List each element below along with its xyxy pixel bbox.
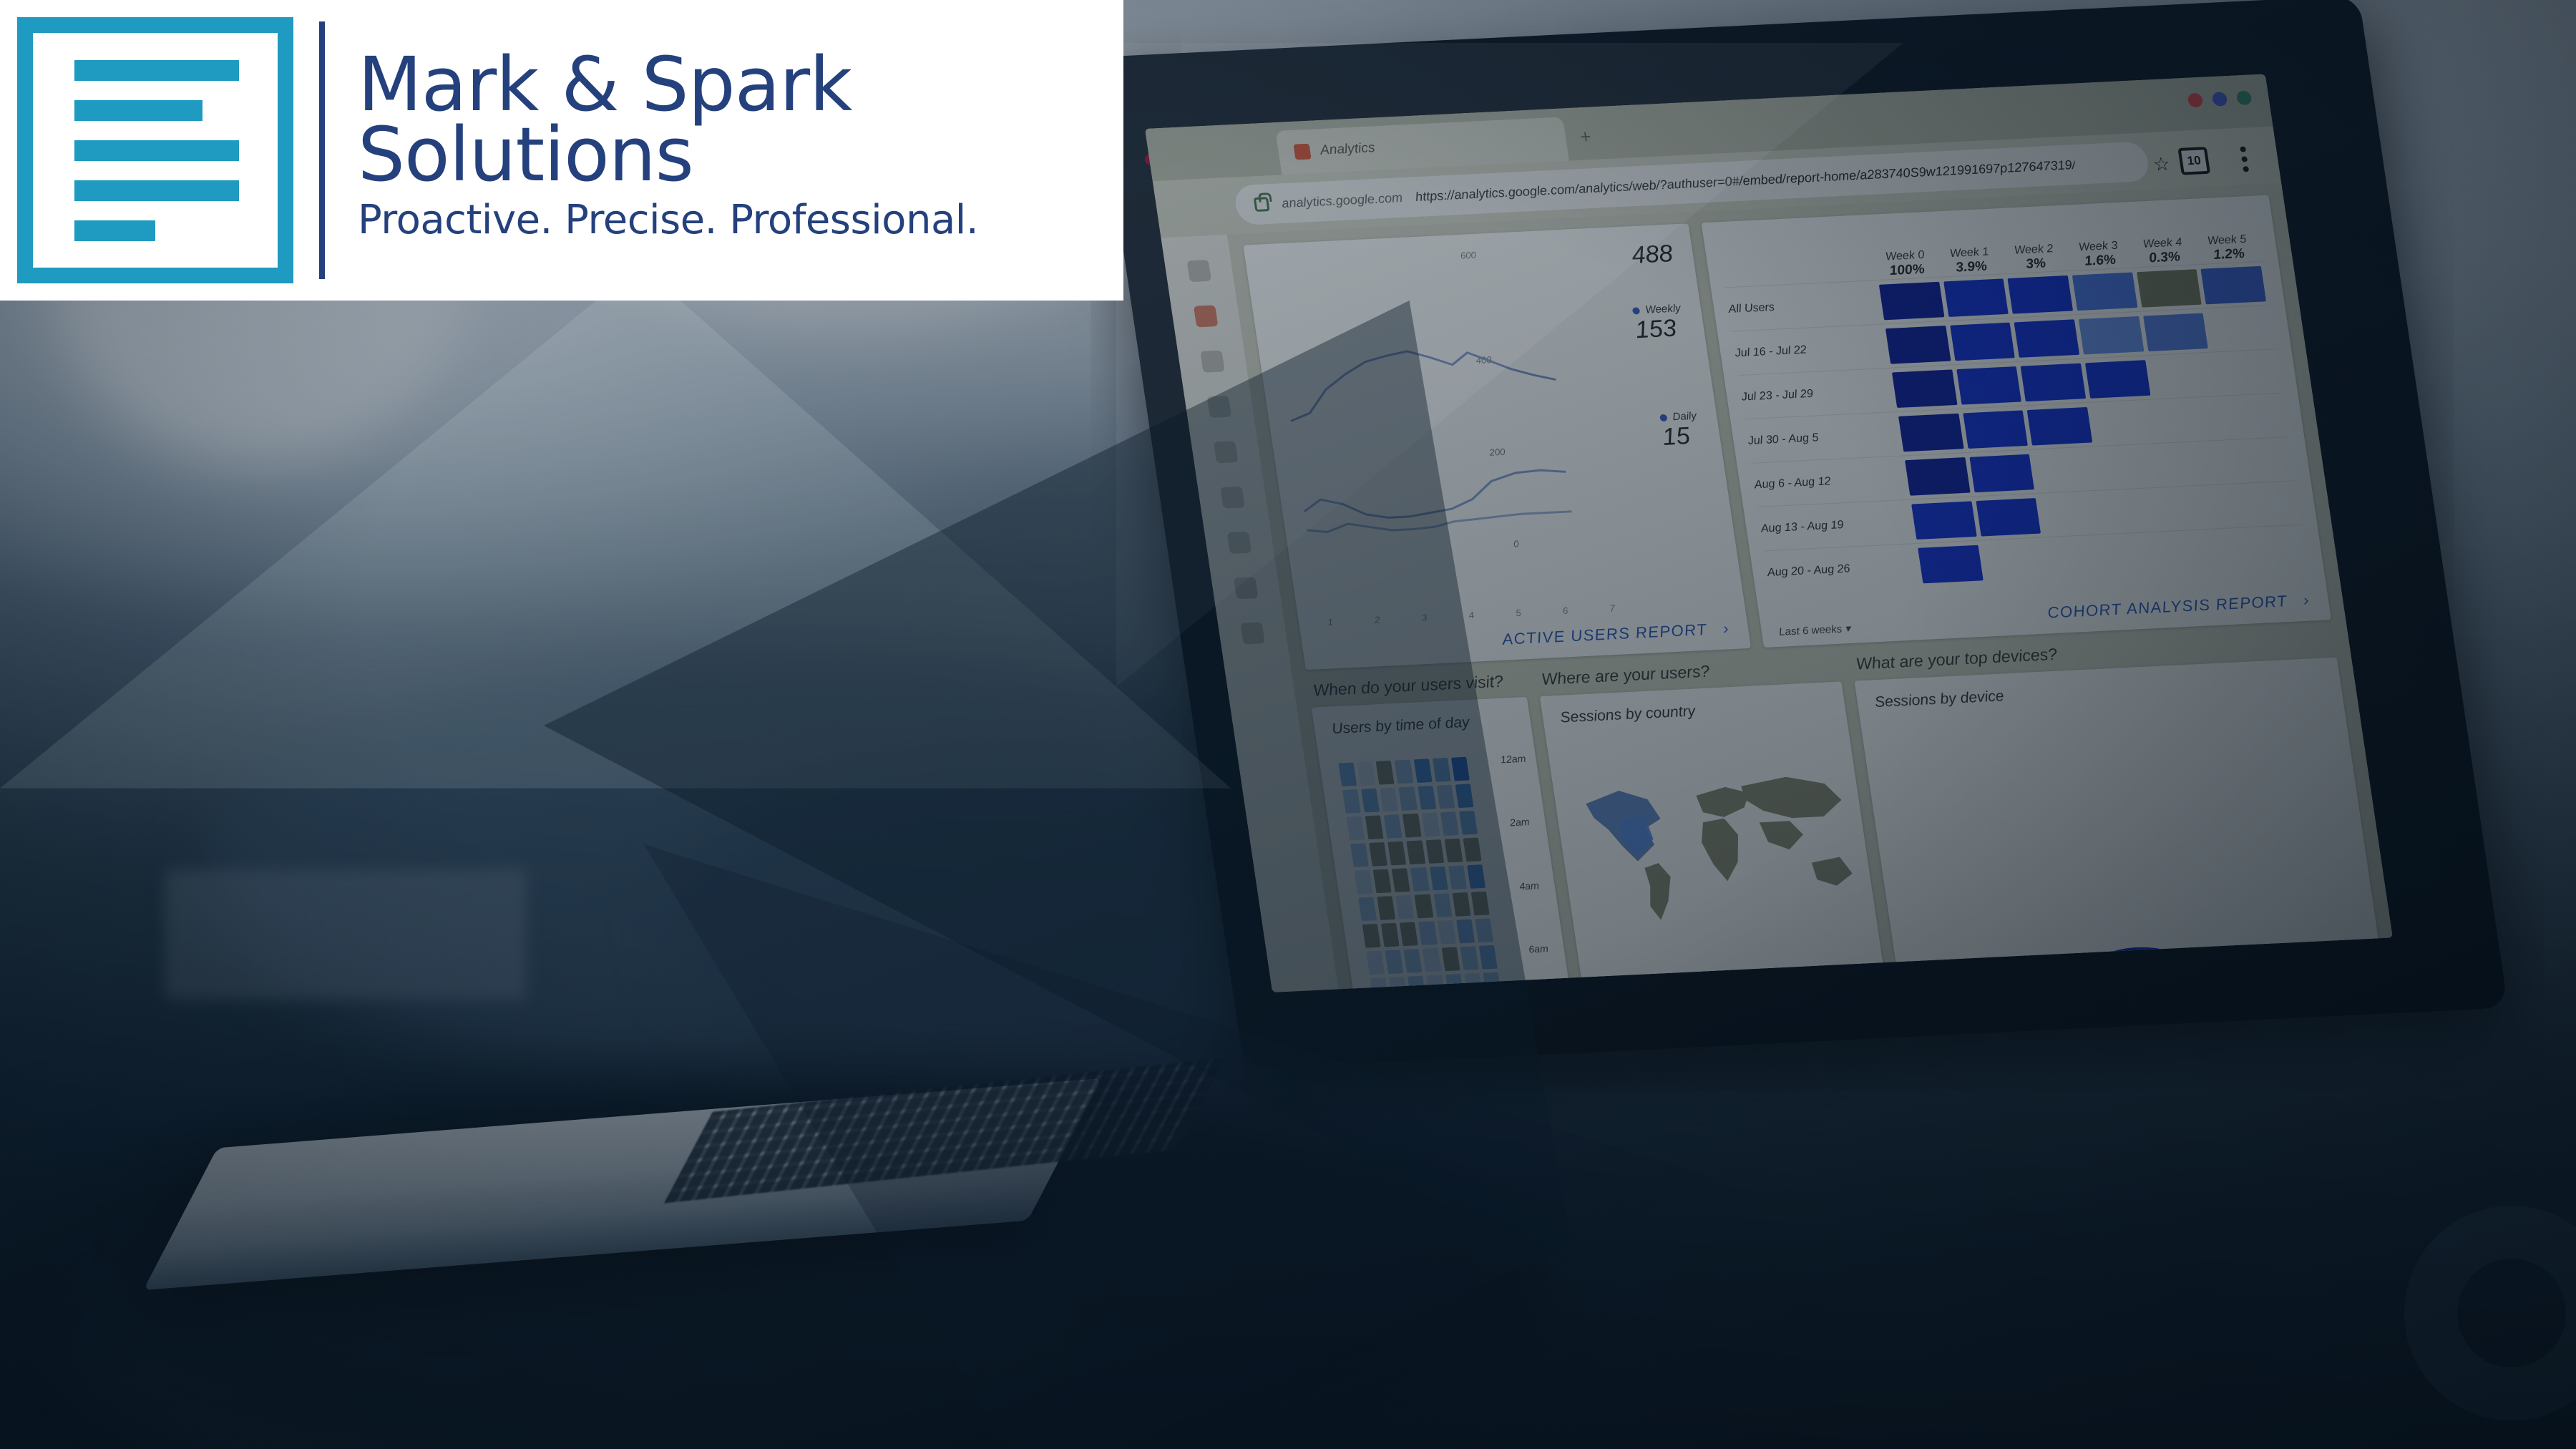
logo-divider [319,21,325,279]
promotional-banner: Analytics + analytics.google.com https:/… [0,0,2576,1449]
brand-wordmark: Mark & Spark Solutions Proactive. Precis… [358,50,978,250]
brand-name-line1: Mark & Spark [358,50,978,120]
document-lines-icon [17,17,293,283]
brand-tagline: Proactive. Precise. Professional. [358,190,978,250]
brand-name-line2: Solutions [358,120,978,190]
brand-logo-panel: Mark & Spark Solutions Proactive. Precis… [0,0,1123,301]
